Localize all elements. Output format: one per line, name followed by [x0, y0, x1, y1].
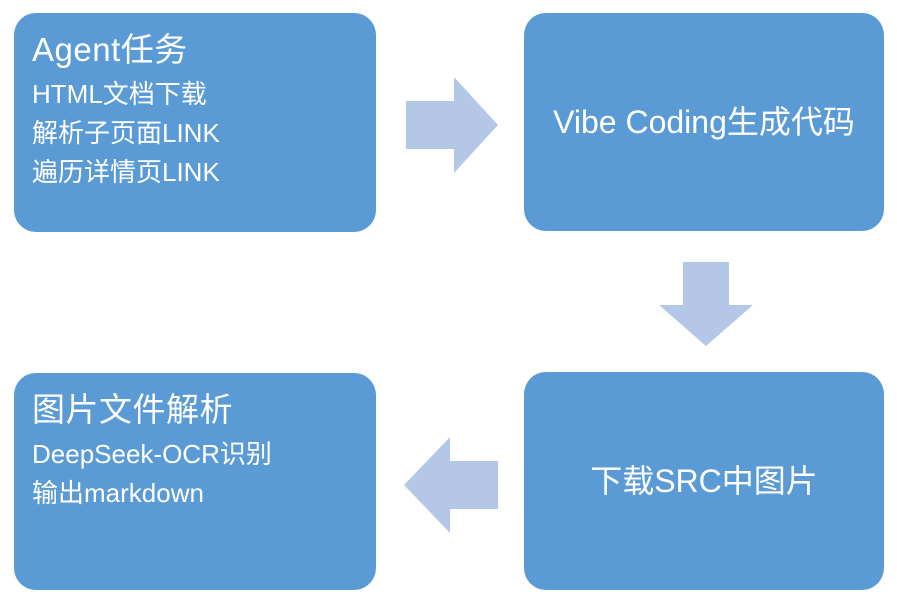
flow-node-line: HTML文档下载 — [32, 75, 220, 114]
flow-node-title: 图片文件解析 — [32, 387, 233, 433]
flow-node-text: Vibe Coding生成代码 — [553, 100, 855, 144]
flow-node-agent-task[interactable]: Agent任务 HTML文档下载 解析子页面LINK 遍历详情页LINK — [14, 13, 376, 232]
flow-node-vibe-coding[interactable]: Vibe Coding生成代码 — [524, 13, 884, 231]
flow-node-line: DeepSeek-OCR识别 — [32, 435, 272, 474]
arrow-down-icon — [659, 262, 753, 346]
flow-node-text: 下载SRC中图片 — [590, 459, 818, 503]
flow-node-line-list: HTML文档下载 解析子页面LINK 遍历详情页LINK — [32, 75, 220, 192]
arrow-right-icon — [406, 77, 498, 173]
flow-node-title: Agent任务 — [32, 27, 188, 73]
flow-node-image-file-parse[interactable]: 图片文件解析 DeepSeek-OCR识别 输出markdown — [14, 373, 376, 590]
flow-node-line: 输出markdown — [32, 474, 272, 513]
flow-node-line: 遍历详情页LINK — [32, 153, 220, 192]
flow-node-line-list: DeepSeek-OCR识别 输出markdown — [32, 435, 272, 513]
flowchart-canvas: Agent任务 HTML文档下载 解析子页面LINK 遍历详情页LINK Vib… — [0, 0, 897, 602]
flow-node-download-src-images[interactable]: 下载SRC中图片 — [524, 372, 884, 590]
arrow-left-icon — [404, 437, 498, 533]
flow-node-line: 解析子页面LINK — [32, 114, 220, 153]
